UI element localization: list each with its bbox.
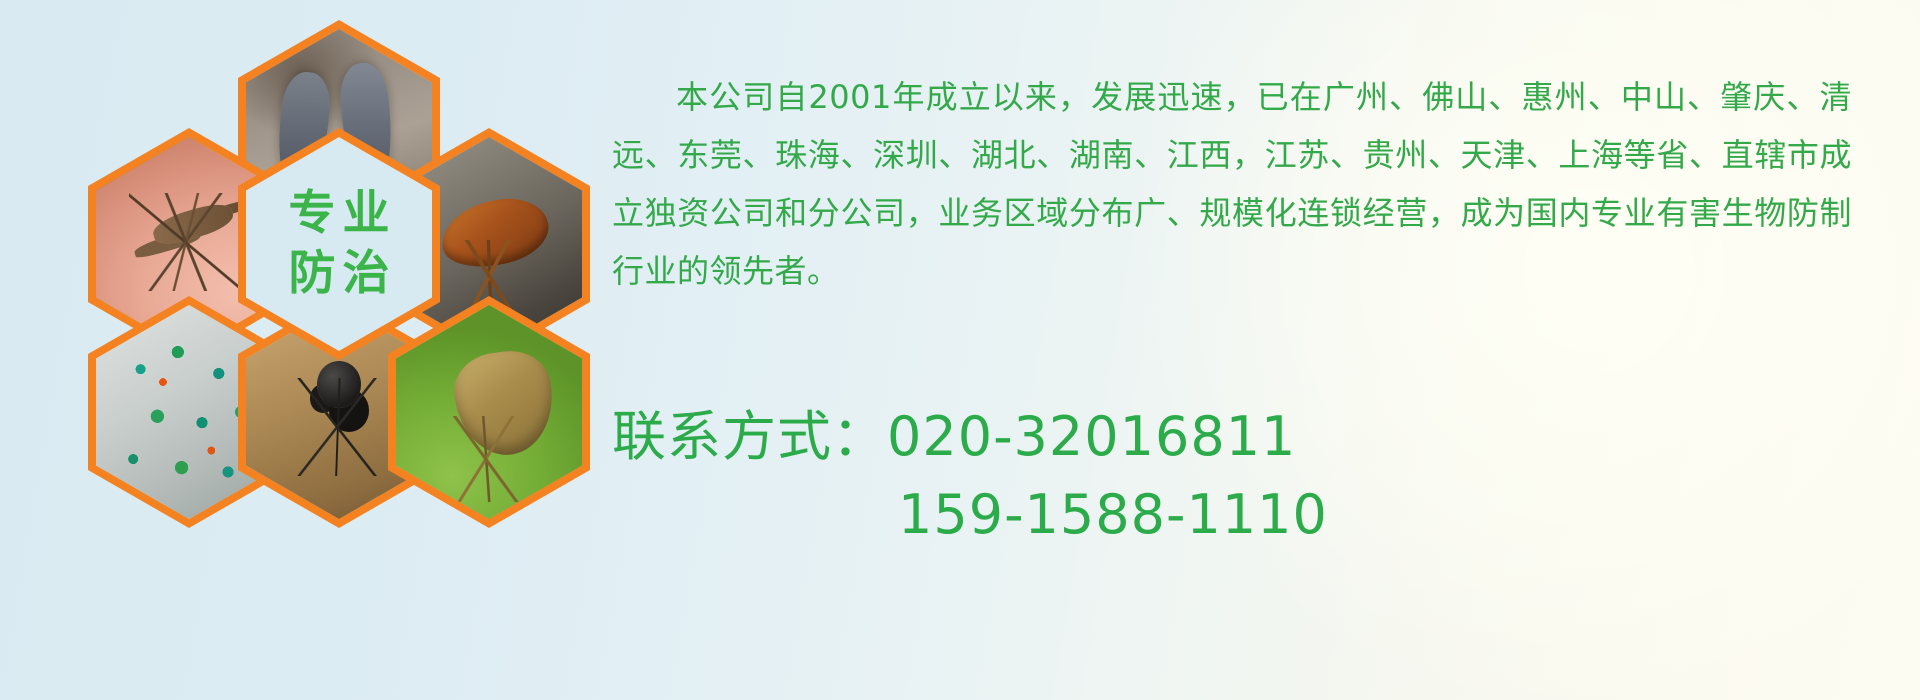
contact-phone-primary[interactable]: 联系方式：020-32016811 [612,398,1912,476]
hexagon-photo-cluster: 专业 防治 [88,8,588,568]
hex-inner-stink-bug [396,305,582,519]
stink-bug-photo [396,305,582,519]
hex-tile-stink-bug [388,296,590,528]
hex-center-label-line2: 防治 [282,244,397,304]
hex-center-label-line1: 专业 [282,184,397,244]
hex-inner-center: 专业 防治 [246,137,432,351]
company-intro-paragraph: 本公司自2001年成立以来，发展迅速，已在广州、佛山、惠州、中山、肇庆、清远、东… [612,68,1852,300]
promo-banner: 专业 防治 本公司自2001年成立以来，发展迅速，已在广州、佛山、惠州、中山、肇… [0,0,1920,700]
contact-block: 联系方式：020-32016811 159-1588-1110 [612,398,1912,554]
contact-phone-secondary[interactable]: 159-1588-1110 [612,476,1912,554]
intro-copy-block: 本公司自2001年成立以来，发展迅速，已在广州、佛山、惠州、中山、肇庆、清远、东… [612,36,1920,332]
